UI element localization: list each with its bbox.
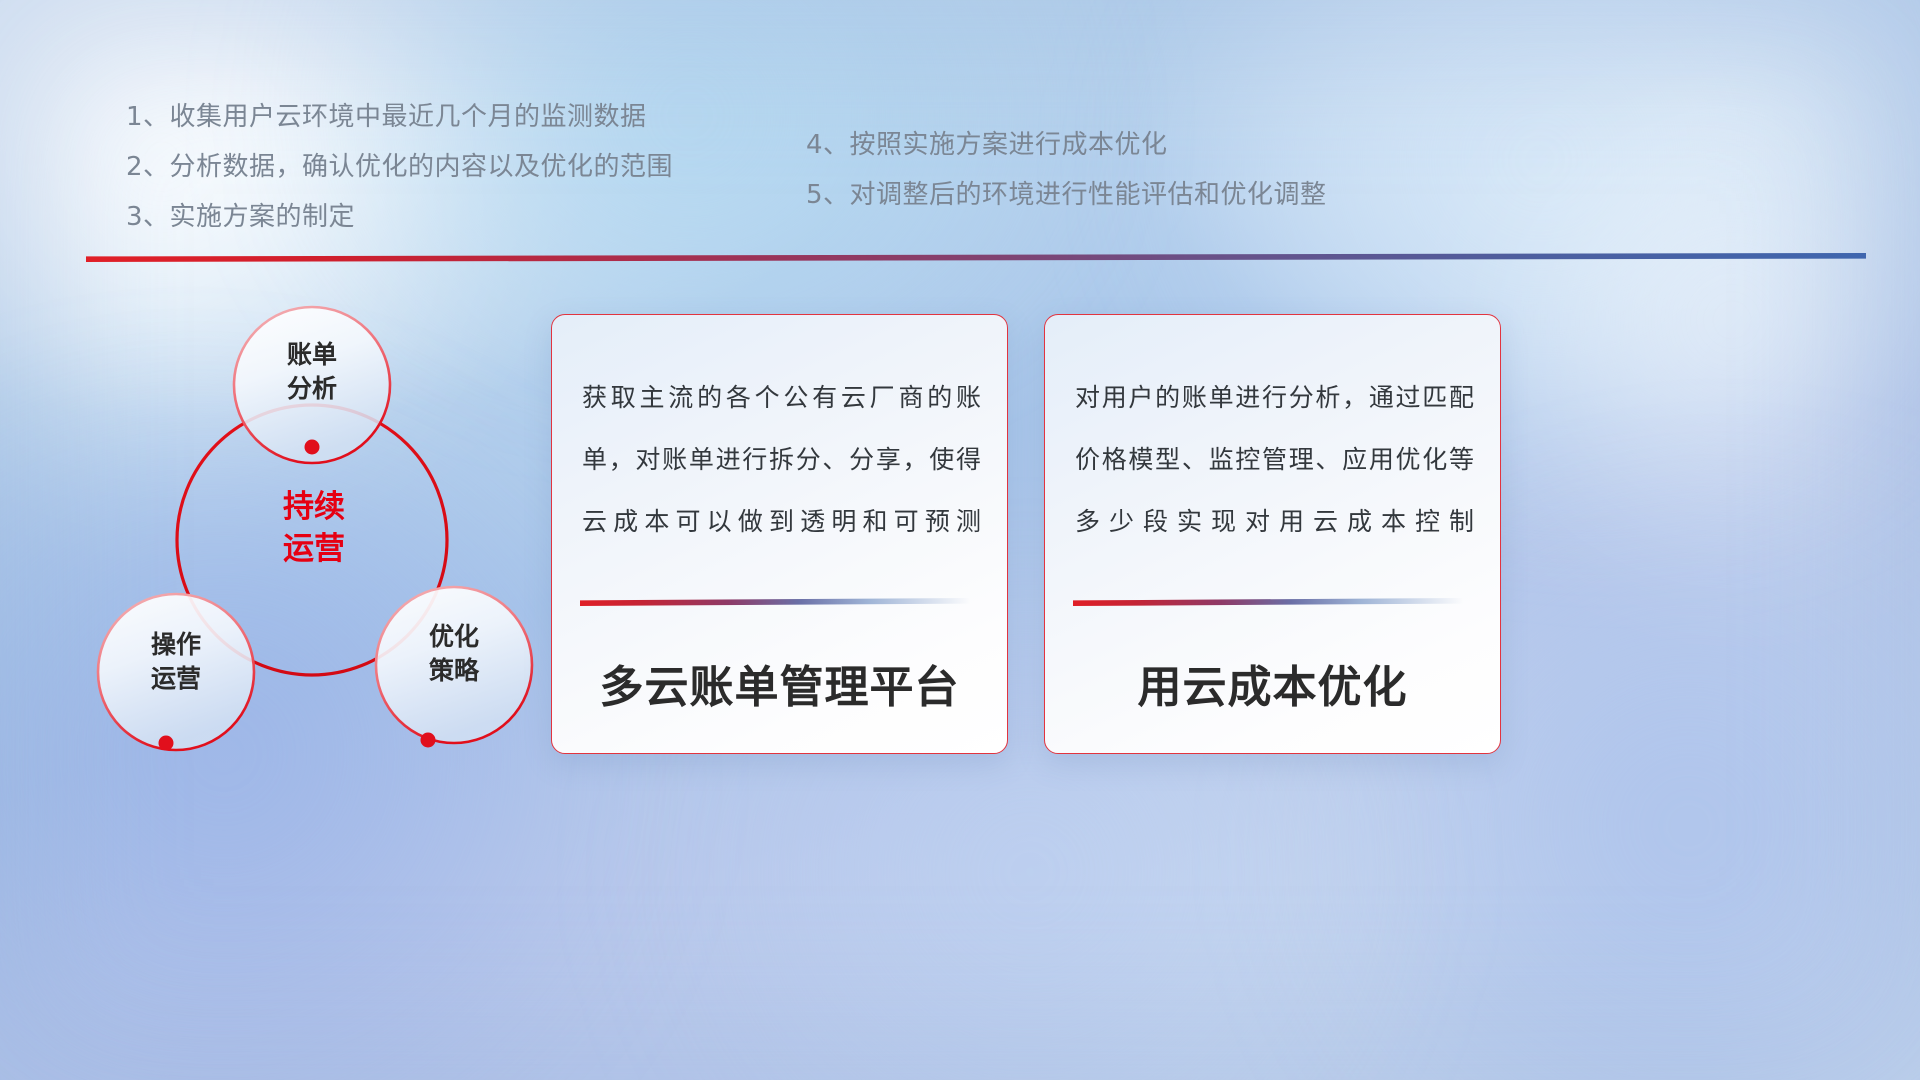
card-body-text: 对用户的账单进行分析，通过匹配价格模型、监控管理、应用优化等多少段实现对用云成本… bbox=[1075, 367, 1474, 553]
venn-label-bill-analysis: 账单 分析 bbox=[252, 338, 372, 406]
venn-label-operations: 操作 运营 bbox=[116, 628, 236, 696]
info-card-billing-platform[interactable]: 获取主流的各个公有云厂商的账单，对账单进行拆分、分享，使得云成本可以做到透明和可… bbox=[551, 314, 1008, 754]
step-item: 5、对调整后的环境进行性能评估和优化调整 bbox=[806, 170, 1327, 220]
info-card-cost-optimization[interactable]: 对用户的账单进行分析，通过匹配价格模型、监控管理、应用优化等多少段实现对用云成本… bbox=[1044, 314, 1501, 754]
card-title: 多云账单管理平台 bbox=[552, 651, 1007, 715]
steps-list-left: 1、收集用户云环境中最近几个月的监测数据 2、分析数据，确认优化的内容以及优化的… bbox=[126, 92, 673, 242]
step-item: 4、按照实施方案进行成本优化 bbox=[806, 120, 1327, 170]
card-accent-rule bbox=[1073, 598, 1463, 606]
venn-label-continuous-operation: 持续 运营 bbox=[246, 486, 382, 570]
card-title: 用云成本优化 bbox=[1045, 651, 1500, 715]
step-item: 1、收集用户云环境中最近几个月的监测数据 bbox=[126, 92, 673, 142]
step-item: 3、实施方案的制定 bbox=[126, 192, 673, 242]
step-item: 2、分析数据，确认优化的内容以及优化的范围 bbox=[126, 142, 673, 192]
venn-diagram: 账单 分析 操作 运营 优化 策略 持续 运营 bbox=[84, 290, 534, 760]
venn-node-dot-right bbox=[421, 733, 436, 748]
venn-label-optimization-strategy: 优化 策略 bbox=[394, 620, 514, 688]
card-body-text: 获取主流的各个公有云厂商的账单，对账单进行拆分、分享，使得云成本可以做到透明和可… bbox=[582, 367, 981, 553]
venn-node-dot-top bbox=[305, 440, 320, 455]
card-accent-rule bbox=[580, 598, 970, 606]
venn-node-dot-left bbox=[159, 736, 174, 751]
steps-list-right: 4、按照实施方案进行成本优化 5、对调整后的环境进行性能评估和优化调整 bbox=[806, 120, 1327, 220]
